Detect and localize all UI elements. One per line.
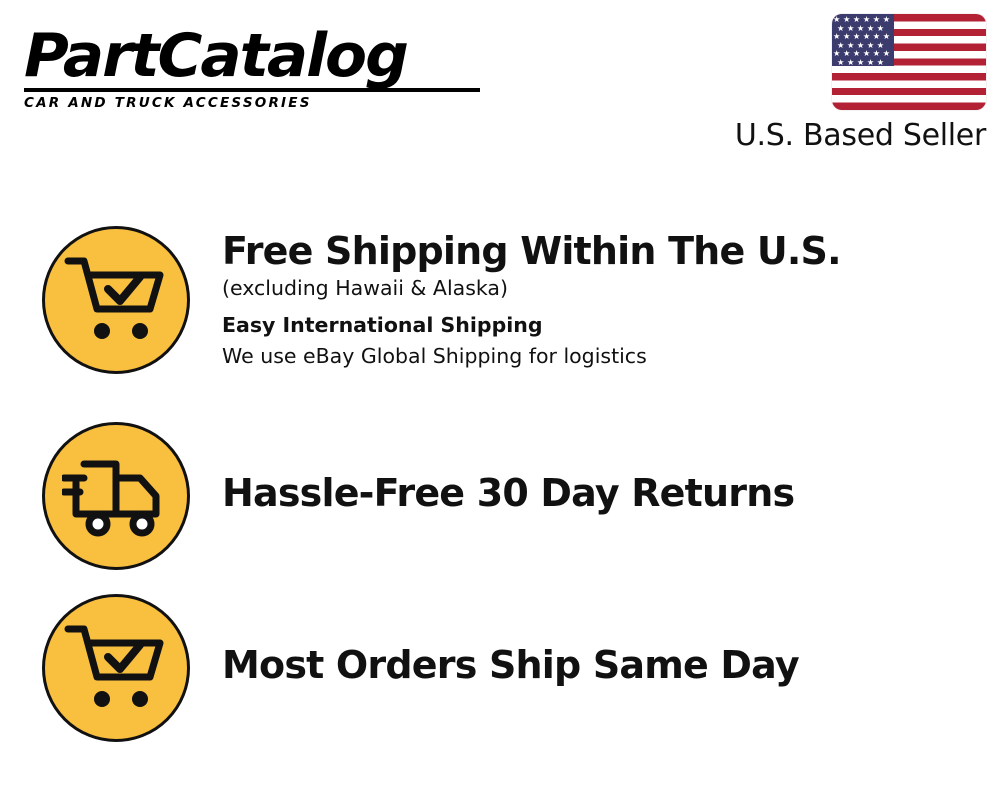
- feature-text-free-shipping: Free Shipping Within The U.S. (excluding…: [222, 226, 841, 372]
- feature-subtitle: (excluding Hawaii & Alaska): [222, 273, 841, 304]
- feature-text-returns: Hassle-Free 30 Day Returns: [222, 422, 794, 515]
- feature-list: Free Shipping Within The U.S. (excluding…: [0, 226, 1000, 766]
- us-based-seller-label: U.S. Based Seller: [735, 118, 986, 153]
- page-header: PartCatalog CAR AND TRUCK ACCESSORIES ★ …: [0, 0, 1000, 170]
- shopping-cart-check-icon: [42, 594, 190, 742]
- brand-logo[interactable]: PartCatalog CAR AND TRUCK ACCESSORIES: [24, 26, 494, 111]
- feature-text-same-day: Most Orders Ship Same Day: [222, 594, 799, 687]
- brand-logo-tagline: CAR AND TRUCK ACCESSORIES: [24, 95, 494, 111]
- feature-row-returns: Hassle-Free 30 Day Returns: [0, 422, 1000, 594]
- flag-stars: ★ ★ ★ ★ ★ ★ ★ ★ ★ ★ ★ ★ ★ ★ ★ ★ ★ ★ ★ ★ …: [832, 14, 894, 66]
- brand-logo-wordmark: PartCatalog: [24, 26, 503, 86]
- shopping-cart-check-icon: [42, 226, 190, 374]
- feature-row-same-day: Most Orders Ship Same Day: [0, 594, 1000, 766]
- feature-title: Free Shipping Within The U.S.: [222, 230, 841, 273]
- us-flag-icon: ★ ★ ★ ★ ★ ★ ★ ★ ★ ★ ★ ★ ★ ★ ★ ★ ★ ★ ★ ★ …: [832, 14, 986, 110]
- delivery-truck-icon: [42, 422, 190, 570]
- feature-title: Hassle-Free 30 Day Returns: [222, 472, 794, 515]
- feature-title: Most Orders Ship Same Day: [222, 644, 799, 687]
- feature-subtitle-secondary: We use eBay Global Shipping for logistic…: [222, 341, 841, 372]
- feature-row-free-shipping: Free Shipping Within The U.S. (excluding…: [0, 226, 1000, 422]
- feature-subtitle-bold: Easy International Shipping: [222, 310, 841, 341]
